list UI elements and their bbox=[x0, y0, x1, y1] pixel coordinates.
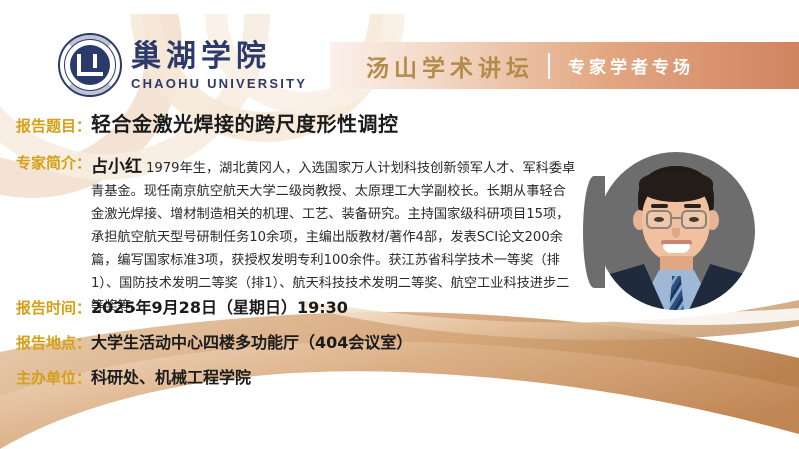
report-place-row: 报告地点： 大学生活动中心四楼多功能厅（404会议室） bbox=[16, 329, 412, 353]
report-title-label: 报告题目： bbox=[16, 115, 91, 136]
poster-canvas: 巢湖学院 CHAOHU UNIVERSITY 汤山学术讲坛 专家学者专场 bbox=[0, 0, 799, 449]
report-time-label: 报告时间： bbox=[16, 297, 91, 318]
report-host-row: 主办单位： 科研处、机械工程学院 bbox=[16, 364, 251, 388]
report-title-value: 轻合金激光焊接的跨尺度形性调控 bbox=[91, 108, 399, 137]
speaker-bio-text: 1979年生，湖北黄冈人，入选国家万人计划科技创新领军人才、军科委卓青基金。现任… bbox=[91, 161, 575, 314]
report-host-label: 主办单位： bbox=[16, 367, 91, 388]
report-title-row: 报告题目： 轻合金激光焊接的跨尺度形性调控 bbox=[16, 108, 399, 137]
report-host-value: 科研处、机械工程学院 bbox=[91, 364, 251, 388]
report-time-value: 2025年9月28日（星期日）19:30 bbox=[91, 294, 348, 318]
report-place-value: 大学生活动中心四楼多功能厅（404会议室） bbox=[91, 329, 412, 353]
report-place-label: 报告地点： bbox=[16, 332, 91, 353]
speaker-name: 占小红 bbox=[91, 157, 142, 177]
poster-content: 报告题目： 轻合金激光焊接的跨尺度形性调控 专家简介： 占小红1979年生，湖北… bbox=[0, 0, 799, 449]
report-time-row: 报告时间： 2025年9月28日（星期日）19:30 bbox=[16, 294, 348, 318]
